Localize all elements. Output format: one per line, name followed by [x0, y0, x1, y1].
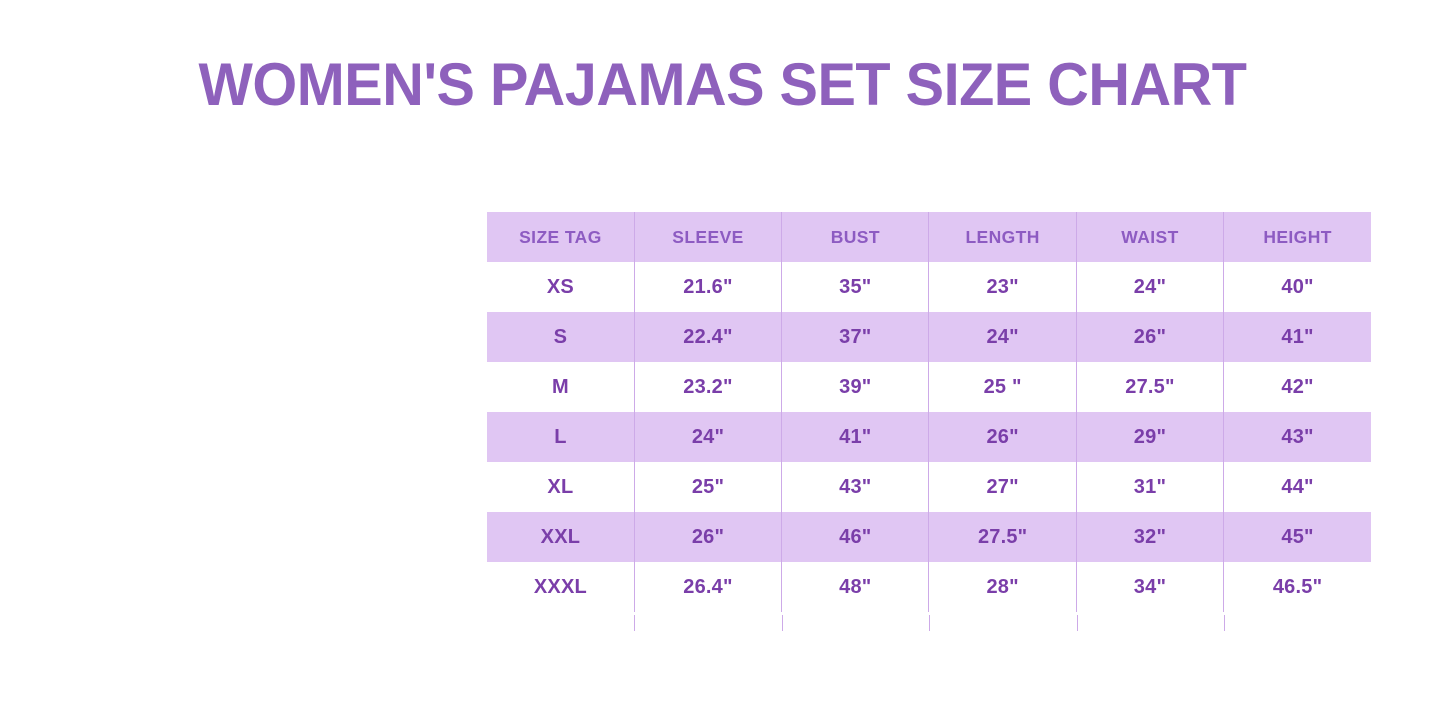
column-header-sleeve: SLEEVE	[634, 212, 781, 262]
cell-length: 23"	[929, 262, 1076, 312]
table-row: XXL 26" 46" 27.5" 32" 45"	[487, 512, 1371, 562]
cell-waist: 31"	[1076, 462, 1223, 512]
column-divider-tail	[929, 615, 930, 631]
cell-bust: 35"	[782, 262, 929, 312]
cell-height: 46.5"	[1224, 562, 1371, 612]
cell-waist: 29"	[1076, 412, 1223, 462]
column-divider-tail	[634, 615, 635, 631]
cell-height: 43"	[1224, 412, 1371, 462]
column-divider-tail	[1224, 615, 1225, 631]
cell-bust: 46"	[782, 512, 929, 562]
cell-length: 28"	[929, 562, 1076, 612]
cell-height: 44"	[1224, 462, 1371, 512]
table-row: XL 25" 43" 27" 31" 44"	[487, 462, 1371, 512]
cell-height: 45"	[1224, 512, 1371, 562]
cell-size-tag: XL	[487, 462, 634, 512]
column-header-bust: BUST	[782, 212, 929, 262]
column-header-height: HEIGHT	[1224, 212, 1371, 262]
cell-sleeve: 25"	[634, 462, 781, 512]
column-header-waist: WAIST	[1076, 212, 1223, 262]
cell-waist: 32"	[1076, 512, 1223, 562]
cell-waist: 34"	[1076, 562, 1223, 612]
cell-bust: 48"	[782, 562, 929, 612]
cell-sleeve: 21.6"	[634, 262, 781, 312]
cell-bust: 37"	[782, 312, 929, 362]
cell-length: 26"	[929, 412, 1076, 462]
cell-waist: 26"	[1076, 312, 1223, 362]
column-divider-tail	[782, 615, 783, 631]
column-divider-tail	[1077, 615, 1078, 631]
cell-height: 42"	[1224, 362, 1371, 412]
cell-length: 24"	[929, 312, 1076, 362]
column-header-size-tag: SIZE TAG	[487, 212, 634, 262]
table-row: L 24" 41" 26" 29" 43"	[487, 412, 1371, 462]
cell-size-tag: XS	[487, 262, 634, 312]
cell-sleeve: 26"	[634, 512, 781, 562]
cell-height: 41"	[1224, 312, 1371, 362]
size-chart-table: SIZE TAG SLEEVE BUST LENGTH WAIST HEIGHT…	[487, 212, 1371, 612]
table-row: XXXL 26.4" 48" 28" 34" 46.5"	[487, 562, 1371, 612]
cell-height: 40"	[1224, 262, 1371, 312]
size-chart-page: WOMEN'S PAJAMAS SET SIZE CHART SIZE TAG …	[0, 0, 1445, 723]
table-row: M 23.2" 39" 25 " 27.5" 42"	[487, 362, 1371, 412]
cell-sleeve: 22.4"	[634, 312, 781, 362]
cell-sleeve: 24"	[634, 412, 781, 462]
cell-sleeve: 23.2"	[634, 362, 781, 412]
table-row: S 22.4" 37" 24" 26" 41"	[487, 312, 1371, 362]
column-header-length: LENGTH	[929, 212, 1076, 262]
cell-length: 25 "	[929, 362, 1076, 412]
table-header-row: SIZE TAG SLEEVE BUST LENGTH WAIST HEIGHT	[487, 212, 1371, 262]
cell-length: 27.5"	[929, 512, 1076, 562]
table-row: XS 21.6" 35" 23" 24" 40"	[487, 262, 1371, 312]
table-body: XS 21.6" 35" 23" 24" 40" S 22.4" 37" 24"…	[487, 262, 1371, 612]
cell-size-tag: M	[487, 362, 634, 412]
cell-waist: 27.5"	[1076, 362, 1223, 412]
cell-waist: 24"	[1076, 262, 1223, 312]
cell-sleeve: 26.4"	[634, 562, 781, 612]
size-chart-table-container: SIZE TAG SLEEVE BUST LENGTH WAIST HEIGHT…	[487, 212, 1371, 612]
cell-size-tag: XXL	[487, 512, 634, 562]
page-title: WOMEN'S PAJAMAS SET SIZE CHART	[29, 52, 1416, 118]
column-divider-tails	[487, 615, 1371, 631]
cell-bust: 41"	[782, 412, 929, 462]
table-header: SIZE TAG SLEEVE BUST LENGTH WAIST HEIGHT	[487, 212, 1371, 262]
cell-size-tag: L	[487, 412, 634, 462]
cell-size-tag: S	[487, 312, 634, 362]
cell-bust: 39"	[782, 362, 929, 412]
cell-length: 27"	[929, 462, 1076, 512]
cell-size-tag: XXXL	[487, 562, 634, 612]
cell-bust: 43"	[782, 462, 929, 512]
